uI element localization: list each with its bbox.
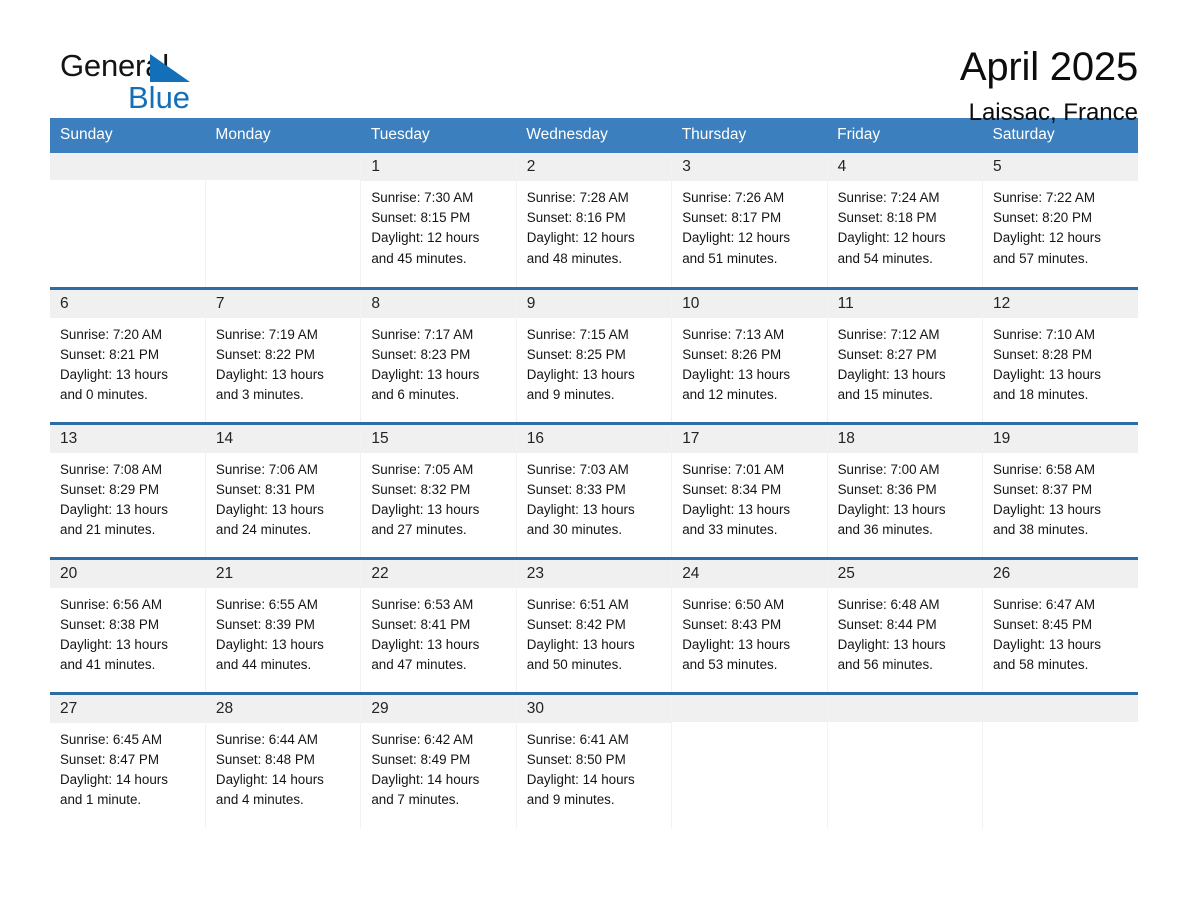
calendar-day-cell[interactable]: 6Sunrise: 7:20 AMSunset: 8:21 PMDaylight… [50,288,205,423]
weekday-header-sunday: Sunday [50,118,205,153]
day-number: 29 [361,695,515,723]
daylight-text-line1: Daylight: 13 hours [216,365,352,385]
daylight-text-line2: and 41 minutes. [60,655,197,675]
calendar-day-cell-empty [983,693,1138,828]
day-number: 15 [361,425,515,453]
day-number: 7 [206,290,360,318]
daylight-text-line2: and 44 minutes. [216,655,352,675]
sunset-text: Sunset: 8:20 PM [993,208,1130,228]
sunrise-sunset-calendar-table: Sunday Monday Tuesday Wednesday Thursday… [50,118,1138,828]
calendar-day-cell[interactable]: 29Sunrise: 6:42 AMSunset: 8:49 PMDayligh… [361,693,516,828]
brand-triangle-icon [150,54,190,82]
sunrise-text: Sunrise: 6:42 AM [371,730,507,750]
sunset-text: Sunset: 8:44 PM [838,615,974,635]
sunrise-text: Sunrise: 7:17 AM [371,325,507,345]
daylight-text-line2: and 56 minutes. [838,655,974,675]
calendar-week-row: 1Sunrise: 7:30 AMSunset: 8:15 PMDaylight… [50,153,1138,288]
sunrise-text: Sunrise: 7:08 AM [60,460,197,480]
calendar-day-cell[interactable]: 13Sunrise: 7:08 AMSunset: 8:29 PMDayligh… [50,423,205,558]
daylight-text-line2: and 7 minutes. [371,790,507,810]
daylight-text-line2: and 9 minutes. [527,385,663,405]
sunset-text: Sunset: 8:32 PM [371,480,507,500]
sunrise-text: Sunrise: 7:10 AM [993,325,1130,345]
day-details: Sunrise: 7:15 AMSunset: 8:25 PMDaylight:… [517,318,671,406]
day-details: Sunrise: 6:58 AMSunset: 8:37 PMDaylight:… [983,453,1138,541]
daylight-text-line2: and 1 minute. [60,790,197,810]
sunrise-text: Sunrise: 7:26 AM [682,188,818,208]
day-number: 21 [206,560,360,588]
calendar-day-cell-empty [50,153,205,288]
day-details: Sunrise: 6:56 AMSunset: 8:38 PMDaylight:… [50,588,205,676]
daylight-text-line1: Daylight: 12 hours [682,228,818,248]
logo-text-blue: Blue [128,82,190,113]
day-number: 19 [983,425,1138,453]
calendar-day-cell[interactable]: 19Sunrise: 6:58 AMSunset: 8:37 PMDayligh… [983,423,1138,558]
calendar-week-row: 13Sunrise: 7:08 AMSunset: 8:29 PMDayligh… [50,423,1138,558]
calendar-day-cell-empty [205,153,360,288]
day-number: 16 [517,425,671,453]
daylight-text-line1: Daylight: 12 hours [838,228,974,248]
sunset-text: Sunset: 8:29 PM [60,480,197,500]
sunset-text: Sunset: 8:22 PM [216,345,352,365]
daylight-text-line1: Daylight: 13 hours [527,500,663,520]
day-number [983,695,1138,722]
day-details: Sunrise: 6:41 AMSunset: 8:50 PMDaylight:… [517,723,671,811]
daylight-text-line2: and 54 minutes. [838,249,974,269]
daylight-text-line1: Daylight: 14 hours [60,770,197,790]
calendar-day-cell[interactable]: 18Sunrise: 7:00 AMSunset: 8:36 PMDayligh… [827,423,982,558]
daylight-text-line1: Daylight: 13 hours [216,500,352,520]
calendar-day-cell-empty [827,693,982,828]
calendar-day-cell[interactable]: 28Sunrise: 6:44 AMSunset: 8:48 PMDayligh… [205,693,360,828]
calendar-day-cell[interactable]: 22Sunrise: 6:53 AMSunset: 8:41 PMDayligh… [361,558,516,693]
daylight-text-line2: and 30 minutes. [527,520,663,540]
sunset-text: Sunset: 8:23 PM [371,345,507,365]
day-number: 12 [983,290,1138,318]
calendar-day-cell[interactable]: 15Sunrise: 7:05 AMSunset: 8:32 PMDayligh… [361,423,516,558]
sunset-text: Sunset: 8:18 PM [838,208,974,228]
day-number: 25 [828,560,982,588]
day-details: Sunrise: 7:30 AMSunset: 8:15 PMDaylight:… [361,181,515,269]
day-number: 24 [672,560,826,588]
daylight-text-line2: and 27 minutes. [371,520,507,540]
sunrise-text: Sunrise: 6:45 AM [60,730,197,750]
sunset-text: Sunset: 8:48 PM [216,750,352,770]
daylight-text-line1: Daylight: 13 hours [371,365,507,385]
sunset-text: Sunset: 8:39 PM [216,615,352,635]
daylight-text-line1: Daylight: 13 hours [682,365,818,385]
day-number: 18 [828,425,982,453]
daylight-text-line2: and 0 minutes. [60,385,197,405]
weekday-header-wednesday: Wednesday [516,118,671,153]
sunset-text: Sunset: 8:47 PM [60,750,197,770]
sunset-text: Sunset: 8:21 PM [60,345,197,365]
calendar-day-cell[interactable]: 4Sunrise: 7:24 AMSunset: 8:18 PMDaylight… [827,153,982,288]
sunset-text: Sunset: 8:15 PM [371,208,507,228]
daylight-text-line1: Daylight: 13 hours [682,635,818,655]
calendar-day-cell[interactable]: 16Sunrise: 7:03 AMSunset: 8:33 PMDayligh… [516,423,671,558]
sunset-text: Sunset: 8:36 PM [838,480,974,500]
sunrise-text: Sunrise: 7:15 AM [527,325,663,345]
day-number: 9 [517,290,671,318]
day-details: Sunrise: 7:19 AMSunset: 8:22 PMDaylight:… [206,318,360,406]
sunset-text: Sunset: 8:45 PM [993,615,1130,635]
daylight-text-line1: Daylight: 13 hours [216,635,352,655]
day-details: Sunrise: 7:17 AMSunset: 8:23 PMDaylight:… [361,318,515,406]
daylight-text-line2: and 36 minutes. [838,520,974,540]
day-details: Sunrise: 7:08 AMSunset: 8:29 PMDaylight:… [50,453,205,541]
day-number: 17 [672,425,826,453]
sunset-text: Sunset: 8:42 PM [527,615,663,635]
daylight-text-line2: and 9 minutes. [527,790,663,810]
sunrise-text: Sunrise: 6:56 AM [60,595,197,615]
day-details: Sunrise: 6:44 AMSunset: 8:48 PMDaylight:… [206,723,360,811]
day-details: Sunrise: 6:53 AMSunset: 8:41 PMDaylight:… [361,588,515,676]
calendar-body: 1Sunrise: 7:30 AMSunset: 8:15 PMDaylight… [50,153,1138,828]
sunset-text: Sunset: 8:26 PM [682,345,818,365]
day-details: Sunrise: 7:06 AMSunset: 8:31 PMDaylight:… [206,453,360,541]
day-details: Sunrise: 7:12 AMSunset: 8:27 PMDaylight:… [828,318,982,406]
day-details: Sunrise: 7:22 AMSunset: 8:20 PMDaylight:… [983,181,1138,269]
day-number: 27 [50,695,205,723]
day-number: 6 [50,290,205,318]
day-number: 20 [50,560,205,588]
weekday-header-thursday: Thursday [672,118,827,153]
calendar-day-cell[interactable]: 2Sunrise: 7:28 AMSunset: 8:16 PMDaylight… [516,153,671,288]
weekday-header-monday: Monday [205,118,360,153]
calendar-day-cell[interactable]: 27Sunrise: 6:45 AMSunset: 8:47 PMDayligh… [50,693,205,828]
sunset-text: Sunset: 8:38 PM [60,615,197,635]
day-number: 13 [50,425,205,453]
day-number: 14 [206,425,360,453]
sunrise-text: Sunrise: 6:41 AM [527,730,663,750]
sunset-text: Sunset: 8:33 PM [527,480,663,500]
sunset-text: Sunset: 8:28 PM [993,345,1130,365]
day-number: 22 [361,560,515,588]
day-number: 10 [672,290,826,318]
day-number: 30 [517,695,671,723]
calendar-day-cell[interactable]: 23Sunrise: 6:51 AMSunset: 8:42 PMDayligh… [516,558,671,693]
day-number: 28 [206,695,360,723]
calendar-day-cell[interactable]: 26Sunrise: 6:47 AMSunset: 8:45 PMDayligh… [983,558,1138,693]
daylight-text-line1: Daylight: 12 hours [993,228,1130,248]
day-number [672,695,826,722]
sunrise-text: Sunrise: 7:00 AM [838,460,974,480]
sunrise-text: Sunrise: 6:55 AM [216,595,352,615]
calendar-day-cell[interactable]: 25Sunrise: 6:48 AMSunset: 8:44 PMDayligh… [827,558,982,693]
daylight-text-line2: and 6 minutes. [371,385,507,405]
daylight-text-line2: and 38 minutes. [993,520,1130,540]
daylight-text-line1: Daylight: 13 hours [371,500,507,520]
calendar-day-cell[interactable]: 5Sunrise: 7:22 AMSunset: 8:20 PMDaylight… [983,153,1138,288]
calendar-day-cell[interactable]: 10Sunrise: 7:13 AMSunset: 8:26 PMDayligh… [672,288,827,423]
daylight-text-line2: and 21 minutes. [60,520,197,540]
sunrise-text: Sunrise: 7:06 AM [216,460,352,480]
calendar-day-cell[interactable]: 21Sunrise: 6:55 AMSunset: 8:39 PMDayligh… [205,558,360,693]
calendar-day-cell[interactable]: 12Sunrise: 7:10 AMSunset: 8:28 PMDayligh… [983,288,1138,423]
sunset-text: Sunset: 8:41 PM [371,615,507,635]
daylight-text-line1: Daylight: 13 hours [371,635,507,655]
daylight-text-line1: Daylight: 12 hours [527,228,663,248]
daylight-text-line2: and 47 minutes. [371,655,507,675]
daylight-text-line1: Daylight: 14 hours [371,770,507,790]
sunrise-text: Sunrise: 6:48 AM [838,595,974,615]
day-details: Sunrise: 7:01 AMSunset: 8:34 PMDaylight:… [672,453,826,541]
sunrise-text: Sunrise: 7:30 AM [371,188,507,208]
daylight-text-line1: Daylight: 13 hours [60,500,197,520]
daylight-text-line1: Daylight: 12 hours [371,228,507,248]
sunset-text: Sunset: 8:50 PM [527,750,663,770]
daylight-text-line2: and 58 minutes. [993,655,1130,675]
day-details: Sunrise: 7:03 AMSunset: 8:33 PMDaylight:… [517,453,671,541]
daylight-text-line2: and 12 minutes. [682,385,818,405]
daylight-text-line2: and 53 minutes. [682,655,818,675]
calendar-day-cell[interactable]: 20Sunrise: 6:56 AMSunset: 8:38 PMDayligh… [50,558,205,693]
daylight-text-line1: Daylight: 14 hours [527,770,663,790]
daylight-text-line2: and 57 minutes. [993,249,1130,269]
sunrise-text: Sunrise: 7:13 AM [682,325,818,345]
calendar-day-cell[interactable]: 3Sunrise: 7:26 AMSunset: 8:17 PMDaylight… [672,153,827,288]
day-details: Sunrise: 7:10 AMSunset: 8:28 PMDaylight:… [983,318,1138,406]
daylight-text-line1: Daylight: 13 hours [993,365,1130,385]
day-number: 3 [672,153,826,181]
daylight-text-line2: and 33 minutes. [682,520,818,540]
day-number: 4 [828,153,982,181]
sunrise-text: Sunrise: 6:47 AM [993,595,1130,615]
daylight-text-line1: Daylight: 13 hours [993,635,1130,655]
calendar-day-cell-empty [672,693,827,828]
daylight-text-line2: and 45 minutes. [371,249,507,269]
calendar-week-row: 6Sunrise: 7:20 AMSunset: 8:21 PMDaylight… [50,288,1138,423]
sunrise-text: Sunrise: 7:22 AM [993,188,1130,208]
calendar-day-cell[interactable]: 14Sunrise: 7:06 AMSunset: 8:31 PMDayligh… [205,423,360,558]
daylight-text-line1: Daylight: 13 hours [60,365,197,385]
daylight-text-line1: Daylight: 13 hours [838,500,974,520]
day-details: Sunrise: 7:13 AMSunset: 8:26 PMDaylight:… [672,318,826,406]
calendar-day-cell[interactable]: 7Sunrise: 7:19 AMSunset: 8:22 PMDaylight… [205,288,360,423]
calendar-day-cell[interactable]: 11Sunrise: 7:12 AMSunset: 8:27 PMDayligh… [827,288,982,423]
sunrise-text: Sunrise: 7:24 AM [838,188,974,208]
sunset-text: Sunset: 8:17 PM [682,208,818,228]
day-details: Sunrise: 7:00 AMSunset: 8:36 PMDaylight:… [828,453,982,541]
sunrise-text: Sunrise: 6:44 AM [216,730,352,750]
sunset-text: Sunset: 8:49 PM [371,750,507,770]
sunrise-text: Sunrise: 6:53 AM [371,595,507,615]
generalblue-logo: General Blue [50,44,200,114]
sunrise-text: Sunrise: 6:58 AM [993,460,1130,480]
day-number [206,153,360,180]
weekday-header-tuesday: Tuesday [361,118,516,153]
daylight-text-line2: and 48 minutes. [527,249,663,269]
daylight-text-line1: Daylight: 14 hours [216,770,352,790]
daylight-text-line1: Daylight: 13 hours [838,635,974,655]
location-subtitle: Laissac, France [960,99,1138,127]
day-details: Sunrise: 6:47 AMSunset: 8:45 PMDaylight:… [983,588,1138,676]
sunset-text: Sunset: 8:31 PM [216,480,352,500]
daylight-text-line2: and 24 minutes. [216,520,352,540]
calendar-day-cell[interactable]: 9Sunrise: 7:15 AMSunset: 8:25 PMDaylight… [516,288,671,423]
day-number: 26 [983,560,1138,588]
day-details: Sunrise: 6:45 AMSunset: 8:47 PMDaylight:… [50,723,205,811]
calendar-week-row: 20Sunrise: 6:56 AMSunset: 8:38 PMDayligh… [50,558,1138,693]
calendar-day-cell[interactable]: 1Sunrise: 7:30 AMSunset: 8:15 PMDaylight… [361,153,516,288]
day-details: Sunrise: 6:51 AMSunset: 8:42 PMDaylight:… [517,588,671,676]
calendar-page: General Blue April 2025 Laissac, France … [0,0,1188,918]
daylight-text-line1: Daylight: 13 hours [60,635,197,655]
page-header: General Blue April 2025 Laissac, France [50,0,1138,104]
daylight-text-line2: and 4 minutes. [216,790,352,810]
sunrise-text: Sunrise: 7:20 AM [60,325,197,345]
sunrise-text: Sunrise: 7:05 AM [371,460,507,480]
day-number: 2 [517,153,671,181]
calendar-week-row: 27Sunrise: 6:45 AMSunset: 8:47 PMDayligh… [50,693,1138,828]
sunset-text: Sunset: 8:37 PM [993,480,1130,500]
sunset-text: Sunset: 8:43 PM [682,615,818,635]
sunrise-text: Sunrise: 7:12 AM [838,325,974,345]
day-number: 8 [361,290,515,318]
sunset-text: Sunset: 8:16 PM [527,208,663,228]
daylight-text-line2: and 15 minutes. [838,385,974,405]
calendar-day-cell[interactable]: 30Sunrise: 6:41 AMSunset: 8:50 PMDayligh… [516,693,671,828]
day-number: 5 [983,153,1138,181]
day-details: Sunrise: 7:24 AMSunset: 8:18 PMDaylight:… [828,181,982,269]
day-number [50,153,205,180]
sunrise-text: Sunrise: 7:19 AM [216,325,352,345]
calendar-day-cell[interactable]: 8Sunrise: 7:17 AMSunset: 8:23 PMDaylight… [361,288,516,423]
day-details: Sunrise: 7:20 AMSunset: 8:21 PMDaylight:… [50,318,205,406]
page-title: April 2025 [960,46,1138,89]
daylight-text-line1: Daylight: 13 hours [993,500,1130,520]
daylight-text-line1: Daylight: 13 hours [682,500,818,520]
daylight-text-line1: Daylight: 13 hours [527,635,663,655]
sunrise-text: Sunrise: 6:51 AM [527,595,663,615]
day-details: Sunrise: 6:42 AMSunset: 8:49 PMDaylight:… [361,723,515,811]
day-number: 11 [828,290,982,318]
calendar-day-cell[interactable]: 24Sunrise: 6:50 AMSunset: 8:43 PMDayligh… [672,558,827,693]
daylight-text-line2: and 51 minutes. [682,249,818,269]
day-number: 1 [361,153,515,181]
calendar-day-cell[interactable]: 17Sunrise: 7:01 AMSunset: 8:34 PMDayligh… [672,423,827,558]
sunset-text: Sunset: 8:34 PM [682,480,818,500]
sunrise-text: Sunrise: 7:28 AM [527,188,663,208]
daylight-text-line2: and 3 minutes. [216,385,352,405]
day-number [828,695,982,722]
daylight-text-line2: and 50 minutes. [527,655,663,675]
sunrise-text: Sunrise: 7:01 AM [682,460,818,480]
title-block: April 2025 Laissac, France [960,44,1138,127]
sunset-text: Sunset: 8:25 PM [527,345,663,365]
day-details: Sunrise: 7:26 AMSunset: 8:17 PMDaylight:… [672,181,826,269]
day-details: Sunrise: 7:05 AMSunset: 8:32 PMDaylight:… [361,453,515,541]
sunset-text: Sunset: 8:27 PM [838,345,974,365]
day-details: Sunrise: 6:55 AMSunset: 8:39 PMDaylight:… [206,588,360,676]
day-number: 23 [517,560,671,588]
day-details: Sunrise: 6:50 AMSunset: 8:43 PMDaylight:… [672,588,826,676]
daylight-text-line1: Daylight: 13 hours [527,365,663,385]
sunrise-text: Sunrise: 7:03 AM [527,460,663,480]
daylight-text-line2: and 18 minutes. [993,385,1130,405]
day-details: Sunrise: 7:28 AMSunset: 8:16 PMDaylight:… [517,181,671,269]
day-details: Sunrise: 6:48 AMSunset: 8:44 PMDaylight:… [828,588,982,676]
sunrise-text: Sunrise: 6:50 AM [682,595,818,615]
daylight-text-line1: Daylight: 13 hours [838,365,974,385]
